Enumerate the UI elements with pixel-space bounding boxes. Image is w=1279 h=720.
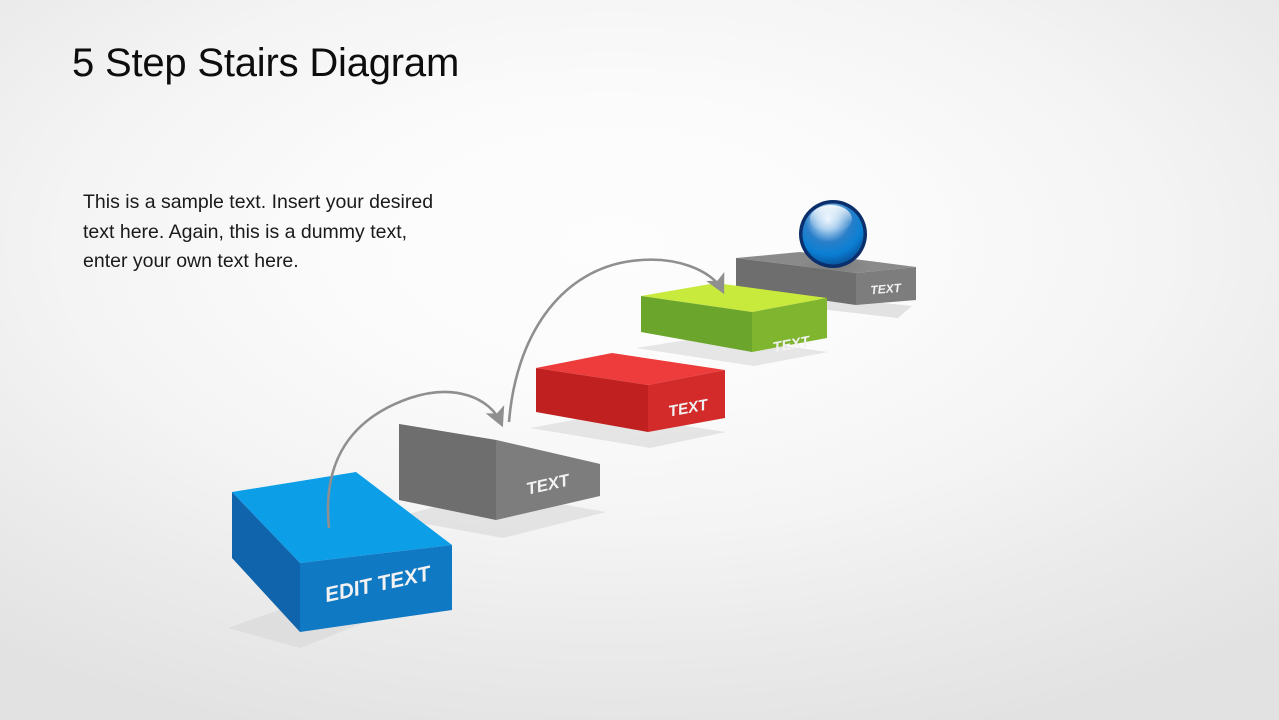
- sphere-gloss: [810, 205, 852, 233]
- stairs-diagram: TEXT TEXT TEXT TEXT: [0, 0, 1279, 720]
- step-2[interactable]: TEXT: [393, 424, 606, 538]
- step-3[interactable]: TEXT: [530, 353, 726, 448]
- step-5-label: TEXT: [870, 281, 903, 297]
- blue-sphere[interactable]: [797, 200, 869, 277]
- step-4[interactable]: TEXT: [636, 283, 828, 366]
- slide-canvas: 5 Step Stairs Diagram This is a sample t…: [0, 0, 1279, 720]
- step-2-left-face: [399, 424, 496, 520]
